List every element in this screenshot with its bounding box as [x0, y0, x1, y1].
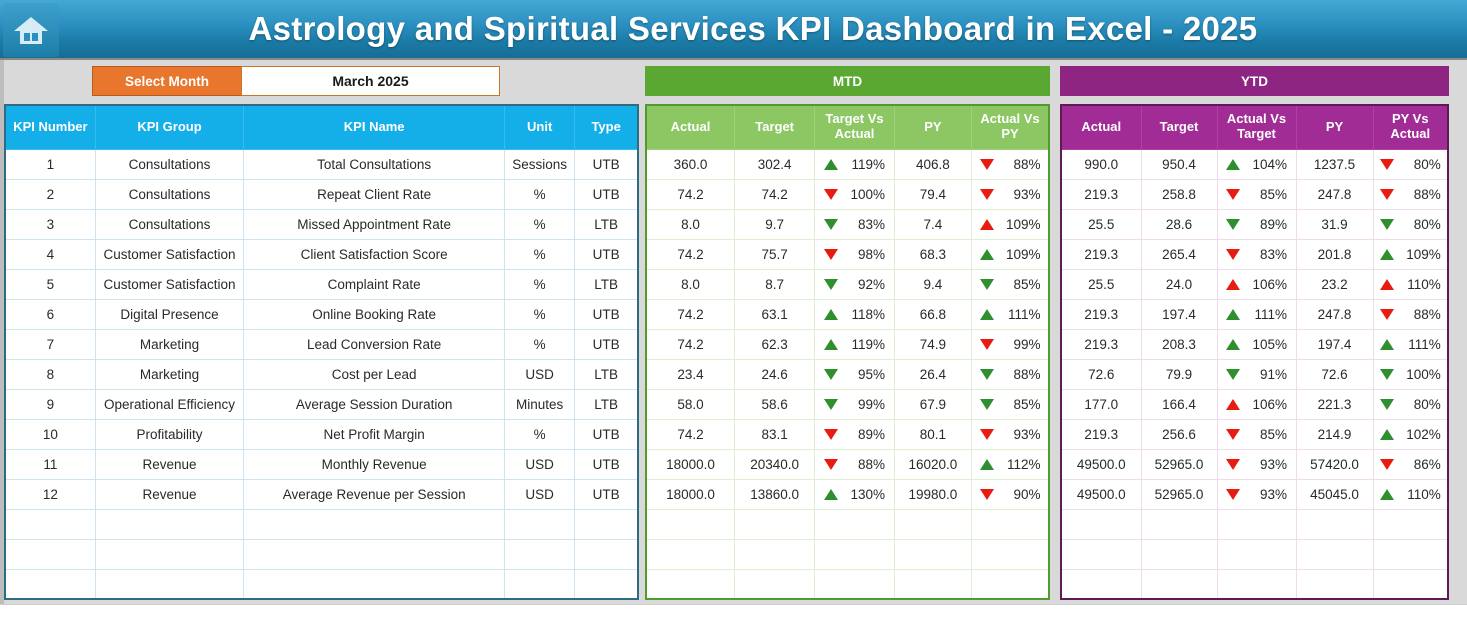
empty-cell: [894, 539, 971, 569]
percent-value: 110%: [1403, 277, 1441, 292]
percent-value: 85%: [1003, 397, 1041, 412]
arrow-down-icon: [1380, 309, 1394, 320]
select-month-label: Select Month: [92, 66, 242, 96]
cell-kpi-number: 7: [5, 329, 95, 359]
cell-mtd-actual: 74.2: [646, 239, 734, 269]
arrow-down-icon: [980, 369, 994, 380]
cell-mtd-py: 66.8: [894, 299, 971, 329]
col-mtd-target-vs-actual[interactable]: Target Vs Actual: [815, 105, 894, 149]
cell-mtd-target: 62.3: [734, 329, 814, 359]
cell-mtd-actual-vs-py: 85%: [972, 389, 1049, 419]
percent-value: 83%: [1249, 247, 1287, 262]
cell-ytd-target: 166.4: [1141, 389, 1217, 419]
arrow-down-icon: [824, 429, 838, 440]
empty-cell: [244, 539, 505, 569]
table-row: 219.3197.4111%247.888%: [1061, 299, 1448, 329]
arrow-up-icon: [1226, 279, 1240, 290]
cell-mtd-target-vs-actual: 98%: [815, 239, 894, 269]
cell-kpi-name: Average Revenue per Session: [244, 479, 505, 509]
percent-value: 119%: [847, 337, 885, 352]
cell-ytd-target: 265.4: [1141, 239, 1217, 269]
percent-value: 80%: [1403, 217, 1441, 232]
cell-mtd-target: 24.6: [734, 359, 814, 389]
arrow-down-icon: [824, 459, 838, 470]
cell-type: UTB: [575, 479, 638, 509]
cell-mtd-actual: 74.2: [646, 299, 734, 329]
percent-value: 93%: [1003, 187, 1041, 202]
cell-ytd-py-vs-actual: 109%: [1373, 239, 1448, 269]
arrow-up-icon: [1226, 159, 1240, 170]
empty-cell: [505, 569, 575, 599]
home-button[interactable]: [3, 3, 59, 57]
percent-value: 93%: [1003, 427, 1041, 442]
cell-mtd-actual-vs-py: 109%: [972, 209, 1049, 239]
cell-mtd-actual: 8.0: [646, 209, 734, 239]
cell-type: LTB: [575, 359, 638, 389]
cell-ytd-actual-vs-target: 93%: [1217, 479, 1296, 509]
arrow-down-icon: [1226, 489, 1240, 500]
cell-mtd-target: 74.2: [734, 179, 814, 209]
percent-value: 111%: [1003, 307, 1041, 322]
empty-cell: [1373, 569, 1448, 599]
empty-cell: [646, 509, 734, 539]
empty-cell: [505, 509, 575, 539]
empty-cell: [1296, 509, 1373, 539]
col-ytd-actual[interactable]: Actual: [1061, 105, 1141, 149]
cell-kpi-number: 1: [5, 149, 95, 179]
cell-ytd-target: 208.3: [1141, 329, 1217, 359]
col-kpi-number[interactable]: KPI Number: [5, 105, 95, 149]
arrow-up-icon: [1226, 399, 1240, 410]
arrow-down-icon: [980, 489, 994, 500]
table-row: 177.0166.4106%221.380%: [1061, 389, 1448, 419]
percent-value: 85%: [1003, 277, 1041, 292]
cell-ytd-py: 57420.0: [1296, 449, 1373, 479]
percent-value: 83%: [847, 217, 885, 232]
empty-cell: [646, 539, 734, 569]
cell-unit: Sessions: [505, 149, 575, 179]
col-mtd-py[interactable]: PY: [894, 105, 971, 149]
arrow-up-icon: [980, 309, 994, 320]
cell-mtd-target: 83.1: [734, 419, 814, 449]
table-row: 8MarketingCost per LeadUSDLTB: [5, 359, 638, 389]
cell-mtd-actual-vs-py: 109%: [972, 239, 1049, 269]
arrow-down-icon: [1226, 459, 1240, 470]
kpi-definition-table: KPI Number KPI Group KPI Name Unit Type …: [4, 104, 639, 600]
cell-kpi-number: 11: [5, 449, 95, 479]
cell-ytd-py: 247.8: [1296, 299, 1373, 329]
cell-mtd-py: 26.4: [894, 359, 971, 389]
arrow-down-icon: [824, 399, 838, 410]
empty-cell: [575, 539, 638, 569]
dashboard-root: Astrology and Spiritual Services KPI Das…: [0, 0, 1467, 618]
empty-cell: [1061, 539, 1141, 569]
empty-cell: [1061, 569, 1141, 599]
cell-kpi-name: Cost per Lead: [244, 359, 505, 389]
table-row-empty: [646, 509, 1049, 539]
empty-cell: [815, 509, 894, 539]
arrow-down-icon: [980, 189, 994, 200]
empty-cell: [5, 539, 95, 569]
cell-ytd-actual-vs-target: 85%: [1217, 179, 1296, 209]
cell-mtd-py: 7.4: [894, 209, 971, 239]
cell-ytd-py: 221.3: [1296, 389, 1373, 419]
cell-ytd-actual-vs-target: 104%: [1217, 149, 1296, 179]
empty-cell: [894, 509, 971, 539]
cell-mtd-target-vs-actual: 88%: [815, 449, 894, 479]
cell-ytd-actual: 72.6: [1061, 359, 1141, 389]
cell-ytd-py: 45045.0: [1296, 479, 1373, 509]
table-row: 12RevenueAverage Revenue per SessionUSDU…: [5, 479, 638, 509]
cell-unit: %: [505, 419, 575, 449]
arrow-down-icon: [1380, 369, 1394, 380]
cell-kpi-group: Profitability: [95, 419, 243, 449]
arrow-down-icon: [1226, 219, 1240, 230]
empty-cell: [1061, 509, 1141, 539]
cell-type: LTB: [575, 389, 638, 419]
empty-cell: [734, 539, 814, 569]
percent-value: 100%: [1403, 367, 1441, 382]
cell-mtd-target: 13860.0: [734, 479, 814, 509]
cell-kpi-name: Repeat Client Rate: [244, 179, 505, 209]
arrow-down-icon: [824, 249, 838, 260]
percent-value: 109%: [1003, 247, 1041, 262]
table-row: 6Digital PresenceOnline Booking Rate%UTB: [5, 299, 638, 329]
cell-ytd-actual-vs-target: 106%: [1217, 389, 1296, 419]
table-row: 8.08.792%9.485%: [646, 269, 1049, 299]
cell-unit: Minutes: [505, 389, 575, 419]
cell-kpi-group: Marketing: [95, 359, 243, 389]
table-row: 9Operational EfficiencyAverage Session D…: [5, 389, 638, 419]
arrow-up-icon: [824, 489, 838, 500]
cell-unit: %: [505, 209, 575, 239]
cell-mtd-actual-vs-py: 93%: [972, 419, 1049, 449]
table-row: 5Customer SatisfactionComplaint Rate%LTB: [5, 269, 638, 299]
percent-value: 119%: [847, 157, 885, 172]
arrow-down-icon: [1380, 219, 1394, 230]
arrow-up-icon: [824, 339, 838, 350]
ytd-section-title: YTD: [1060, 66, 1449, 96]
empty-cell: [894, 569, 971, 599]
cell-kpi-group: Digital Presence: [95, 299, 243, 329]
table-row: 58.058.699%67.985%: [646, 389, 1049, 419]
cell-mtd-actual: 58.0: [646, 389, 734, 419]
percent-value: 88%: [847, 457, 885, 472]
cell-mtd-target-vs-actual: 119%: [815, 149, 894, 179]
table-row: 23.424.695%26.488%: [646, 359, 1049, 389]
col-mtd-actual[interactable]: Actual: [646, 105, 734, 149]
table-row: 10ProfitabilityNet Profit Margin%UTB: [5, 419, 638, 449]
arrow-up-icon: [1226, 309, 1240, 320]
cell-ytd-actual: 219.3: [1061, 329, 1141, 359]
table-row: 74.274.2100%79.493%: [646, 179, 1049, 209]
percent-value: 88%: [1003, 367, 1041, 382]
empty-cell: [1373, 509, 1448, 539]
cell-mtd-target-vs-actual: 89%: [815, 419, 894, 449]
empty-cell: [575, 509, 638, 539]
percent-value: 111%: [1403, 337, 1441, 352]
percent-value: 109%: [1403, 247, 1441, 262]
cell-ytd-actual-vs-target: 83%: [1217, 239, 1296, 269]
cell-ytd-py-vs-actual: 100%: [1373, 359, 1448, 389]
cell-ytd-actual: 219.3: [1061, 239, 1141, 269]
table-header-row: Actual Target Target Vs Actual PY Actual…: [646, 105, 1049, 149]
percent-value: 91%: [1249, 367, 1287, 382]
percent-value: 118%: [847, 307, 885, 322]
cell-type: UTB: [575, 419, 638, 449]
table-row: 219.3258.885%247.888%: [1061, 179, 1448, 209]
cell-kpi-number: 4: [5, 239, 95, 269]
table-row-empty: [646, 539, 1049, 569]
cell-ytd-py-vs-actual: 88%: [1373, 299, 1448, 329]
cell-ytd-py-vs-actual: 102%: [1373, 419, 1448, 449]
cell-mtd-actual: 74.2: [646, 419, 734, 449]
ytd-table: Actual Target Actual Vs Target PY PY Vs …: [1060, 104, 1449, 600]
cell-mtd-actual: 8.0: [646, 269, 734, 299]
cell-ytd-actual: 990.0: [1061, 149, 1141, 179]
mtd-table: Actual Target Target Vs Actual PY Actual…: [645, 104, 1050, 600]
percent-value: 130%: [847, 487, 885, 502]
cell-mtd-actual-vs-py: 88%: [972, 359, 1049, 389]
cell-unit: %: [505, 299, 575, 329]
arrow-down-icon: [1380, 399, 1394, 410]
table-row: 360.0302.4119%406.888%: [646, 149, 1049, 179]
cell-ytd-actual-vs-target: 93%: [1217, 449, 1296, 479]
percent-value: 111%: [1249, 307, 1287, 322]
cell-ytd-actual: 177.0: [1061, 389, 1141, 419]
table-row: 219.3208.3105%197.4111%: [1061, 329, 1448, 359]
cell-ytd-py: 1237.5: [1296, 149, 1373, 179]
cell-ytd-actual-vs-target: 85%: [1217, 419, 1296, 449]
table-row: 25.528.689%31.980%: [1061, 209, 1448, 239]
cell-kpi-number: 9: [5, 389, 95, 419]
percent-value: 110%: [1403, 487, 1441, 502]
cell-ytd-py-vs-actual: 110%: [1373, 269, 1448, 299]
empty-cell: [505, 539, 575, 569]
cell-kpi-number: 12: [5, 479, 95, 509]
empty-cell: [972, 539, 1049, 569]
empty-cell: [244, 509, 505, 539]
empty-cell: [646, 569, 734, 599]
cell-kpi-name: Average Session Duration: [244, 389, 505, 419]
cell-mtd-target: 20340.0: [734, 449, 814, 479]
col-mtd-actual-vs-py[interactable]: Actual Vs PY: [972, 105, 1049, 149]
cell-mtd-py: 16020.0: [894, 449, 971, 479]
empty-cell: [734, 509, 814, 539]
cell-ytd-actual-vs-target: 89%: [1217, 209, 1296, 239]
col-type[interactable]: Type: [575, 105, 638, 149]
arrow-down-icon: [980, 279, 994, 290]
cell-ytd-py: 23.2: [1296, 269, 1373, 299]
percent-value: 80%: [1403, 157, 1441, 172]
arrow-down-icon: [1380, 459, 1394, 470]
cell-mtd-actual: 74.2: [646, 179, 734, 209]
cell-mtd-target-vs-actual: 99%: [815, 389, 894, 419]
arrow-down-icon: [1226, 249, 1240, 260]
empty-cell: [1217, 539, 1296, 569]
cell-kpi-name: Net Profit Margin: [244, 419, 505, 449]
table-row: 3ConsultationsMissed Appointment Rate%LT…: [5, 209, 638, 239]
table-row: 49500.052965.093%57420.086%: [1061, 449, 1448, 479]
table-row: 74.283.189%80.193%: [646, 419, 1049, 449]
footer-strip: [0, 604, 1467, 618]
cell-ytd-py-vs-actual: 80%: [1373, 149, 1448, 179]
empty-cell: [972, 569, 1049, 599]
empty-cell: [95, 569, 243, 599]
cell-mtd-target: 58.6: [734, 389, 814, 419]
percent-value: 100%: [847, 187, 885, 202]
cell-ytd-actual-vs-target: 91%: [1217, 359, 1296, 389]
percent-value: 88%: [1403, 307, 1441, 322]
cell-ytd-actual: 49500.0: [1061, 479, 1141, 509]
table-row-empty: [5, 569, 638, 599]
empty-cell: [734, 569, 814, 599]
cell-kpi-number: 3: [5, 209, 95, 239]
percent-value: 109%: [1003, 217, 1041, 232]
cell-kpi-number: 8: [5, 359, 95, 389]
percent-value: 93%: [1249, 487, 1287, 502]
arrow-up-icon: [1380, 249, 1394, 260]
empty-cell: [1217, 569, 1296, 599]
cell-unit: %: [505, 269, 575, 299]
cell-ytd-py-vs-actual: 111%: [1373, 329, 1448, 359]
table-row-empty: [1061, 539, 1448, 569]
cell-mtd-py: 74.9: [894, 329, 971, 359]
cell-kpi-name: Missed Appointment Rate: [244, 209, 505, 239]
percent-value: 95%: [847, 367, 885, 382]
empty-cell: [5, 509, 95, 539]
cell-mtd-py: 9.4: [894, 269, 971, 299]
cell-mtd-actual-vs-py: 88%: [972, 149, 1049, 179]
table-row-empty: [1061, 509, 1448, 539]
cell-mtd-actual-vs-py: 99%: [972, 329, 1049, 359]
cell-type: LTB: [575, 209, 638, 239]
cell-unit: USD: [505, 449, 575, 479]
percent-value: 99%: [847, 397, 885, 412]
arrow-down-icon: [980, 339, 994, 350]
cell-kpi-group: Marketing: [95, 329, 243, 359]
empty-cell: [575, 569, 638, 599]
cell-mtd-target-vs-actual: 92%: [815, 269, 894, 299]
cell-mtd-py: 79.4: [894, 179, 971, 209]
cell-mtd-target: 8.7: [734, 269, 814, 299]
col-mtd-target[interactable]: Target: [734, 105, 814, 149]
cell-unit: USD: [505, 359, 575, 389]
cell-mtd-actual-vs-py: 90%: [972, 479, 1049, 509]
cell-kpi-group: Revenue: [95, 449, 243, 479]
cell-type: UTB: [575, 299, 638, 329]
col-ytd-target[interactable]: Target: [1141, 105, 1217, 149]
table-row: 74.263.1118%66.8111%: [646, 299, 1049, 329]
empty-cell: [244, 569, 505, 599]
arrow-down-icon: [980, 399, 994, 410]
col-unit[interactable]: Unit: [505, 105, 575, 149]
table-row: 8.09.783%7.4109%: [646, 209, 1049, 239]
percent-value: 92%: [847, 277, 885, 292]
arrow-down-icon: [824, 369, 838, 380]
empty-cell: [815, 569, 894, 599]
cell-mtd-target: 75.7: [734, 239, 814, 269]
cell-mtd-py: 68.3: [894, 239, 971, 269]
percent-value: 89%: [1249, 217, 1287, 232]
empty-cell: [95, 509, 243, 539]
cell-ytd-actual: 25.5: [1061, 209, 1141, 239]
cell-unit: %: [505, 239, 575, 269]
cell-type: UTB: [575, 149, 638, 179]
arrow-down-icon: [824, 279, 838, 290]
cell-mtd-actual: 74.2: [646, 329, 734, 359]
cell-ytd-py-vs-actual: 110%: [1373, 479, 1448, 509]
col-ytd-actual-vs-target[interactable]: Actual Vs Target: [1217, 105, 1296, 149]
arrow-down-icon: [824, 189, 838, 200]
arrow-up-icon: [980, 459, 994, 470]
cell-mtd-py: 406.8: [894, 149, 971, 179]
cell-mtd-actual-vs-py: 111%: [972, 299, 1049, 329]
select-month-value[interactable]: March 2025: [241, 66, 500, 96]
cell-kpi-group: Operational Efficiency: [95, 389, 243, 419]
cell-ytd-target: 52965.0: [1141, 479, 1217, 509]
percent-value: 105%: [1249, 337, 1287, 352]
col-ytd-py-vs-actual[interactable]: PY Vs Actual: [1373, 105, 1448, 149]
percent-value: 106%: [1249, 277, 1287, 292]
empty-cell: [95, 539, 243, 569]
mtd-section-title: MTD: [645, 66, 1050, 96]
cell-ytd-py: 197.4: [1296, 329, 1373, 359]
col-kpi-group[interactable]: KPI Group: [95, 105, 243, 149]
cell-ytd-target: 52965.0: [1141, 449, 1217, 479]
cell-ytd-py-vs-actual: 80%: [1373, 389, 1448, 419]
percent-value: 102%: [1403, 427, 1441, 442]
arrow-up-icon: [1380, 279, 1394, 290]
table-row: 1ConsultationsTotal ConsultationsSession…: [5, 149, 638, 179]
empty-cell: [1373, 539, 1448, 569]
col-ytd-py[interactable]: PY: [1296, 105, 1373, 149]
cell-unit: %: [505, 179, 575, 209]
cell-type: UTB: [575, 239, 638, 269]
table-row-empty: [5, 539, 638, 569]
empty-cell: [1296, 539, 1373, 569]
cell-ytd-target: 28.6: [1141, 209, 1217, 239]
empty-cell: [815, 539, 894, 569]
arrow-up-icon: [980, 249, 994, 260]
table-row-empty: [646, 569, 1049, 599]
cell-mtd-target: 63.1: [734, 299, 814, 329]
cell-kpi-number: 5: [5, 269, 95, 299]
cell-ytd-target: 256.6: [1141, 419, 1217, 449]
table-row: 2ConsultationsRepeat Client Rate%UTB: [5, 179, 638, 209]
cell-mtd-target: 302.4: [734, 149, 814, 179]
percent-value: 88%: [1403, 187, 1441, 202]
cell-type: UTB: [575, 449, 638, 479]
table-row: 74.275.798%68.3109%: [646, 239, 1049, 269]
percent-value: 106%: [1249, 397, 1287, 412]
cell-kpi-name: Client Satisfaction Score: [244, 239, 505, 269]
cell-ytd-target: 258.8: [1141, 179, 1217, 209]
arrow-up-icon: [1380, 339, 1394, 350]
table-row: 72.679.991%72.6100%: [1061, 359, 1448, 389]
arrow-up-icon: [824, 159, 838, 170]
cell-kpi-group: Consultations: [95, 209, 243, 239]
col-kpi-name[interactable]: KPI Name: [244, 105, 505, 149]
cell-mtd-target-vs-actual: 130%: [815, 479, 894, 509]
cell-ytd-target: 79.9: [1141, 359, 1217, 389]
table-row: 7MarketingLead Conversion Rate%UTB: [5, 329, 638, 359]
percent-value: 85%: [1249, 187, 1287, 202]
empty-cell: [1141, 509, 1217, 539]
cell-ytd-py: 214.9: [1296, 419, 1373, 449]
empty-cell: [972, 509, 1049, 539]
percent-value: 85%: [1249, 427, 1287, 442]
